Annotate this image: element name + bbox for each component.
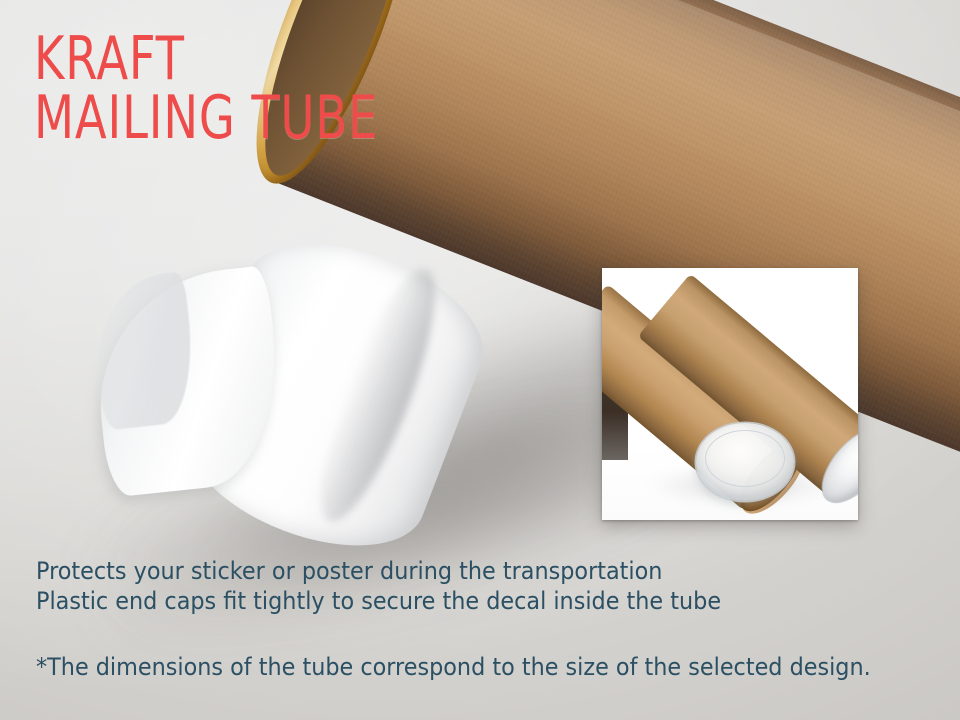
- product-banner: KRAFT MAILING TUBE Protects your sticker…: [0, 0, 960, 720]
- product-detail-photo: [602, 268, 858, 520]
- page-title: KRAFT MAILING TUBE: [34, 30, 434, 148]
- footnote: *The dimensions of the tube correspond t…: [36, 652, 934, 682]
- page-title-line-2: MAILING TUBE: [34, 89, 378, 148]
- rolled-white-poster: [150, 250, 480, 540]
- inset-photo-canvas: [602, 268, 858, 520]
- feature-line-1: Protects your sticker or poster during t…: [36, 556, 721, 586]
- loose-plastic-end-cap: [696, 423, 794, 501]
- feature-description: Protects your sticker or poster during t…: [36, 556, 773, 616]
- feature-line-2: Plastic end caps fit tightly to secure t…: [36, 586, 721, 616]
- footnote-text: *The dimensions of the tube correspond t…: [36, 652, 871, 682]
- page-title-line-1: KRAFT: [34, 30, 378, 89]
